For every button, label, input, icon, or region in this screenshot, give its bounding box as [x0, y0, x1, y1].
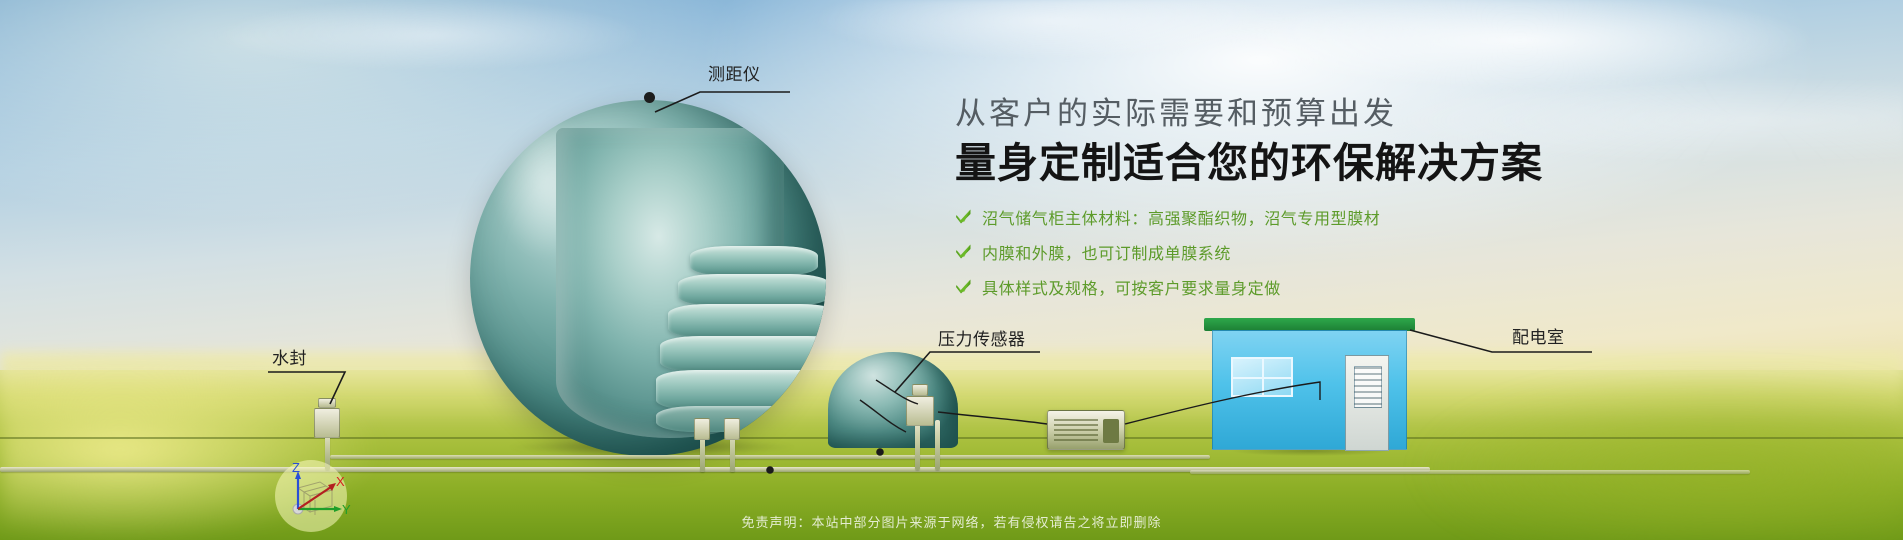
marketing-copy-block: 从客户的实际需要和预算出发 量身定制适合您的环保解决方案 沼气储气柜主体材料：高…: [955, 95, 1655, 310]
check-badge-icon: [955, 208, 972, 225]
annotation-water-seal: 水封: [272, 344, 307, 369]
svg-text:X: X: [336, 474, 345, 489]
bullet-text: 内膜和外膜，也可订制成单膜系统: [982, 240, 1231, 264]
list-item: 内膜和外膜，也可订制成单膜系统: [955, 240, 1655, 264]
svg-text:Z: Z: [292, 460, 300, 475]
annotation-power-distribution-room: 配电室: [1512, 323, 1565, 348]
bullet-text: 具体样式及规格，可按客户要求量身定做: [982, 275, 1281, 299]
copy-title: 量身定制适合您的环保解决方案: [955, 138, 1655, 188]
disclaimer-text: 免责声明：本站中部分图片来源于网络，若有侵权请告之将立即删除: [0, 512, 1903, 531]
annotation-rangefinder: 测距仪: [708, 60, 761, 85]
feature-bullet-list: 沼气储气柜主体材料：高强聚酯织物，沼气专用型膜材 内膜和外膜，也可订制成单膜系统: [955, 205, 1655, 299]
annotation-pressure-sensor: 压力传感器: [938, 325, 1026, 350]
hero-banner: 测距仪 水封 压力传感器 配电室 Z Y X 从客户的实际需要和预算出发 量身定…: [0, 0, 1903, 540]
check-badge-icon: [955, 278, 972, 295]
list-item: 沼气储气柜主体材料：高强聚酯织物，沼气专用型膜材: [955, 205, 1655, 229]
check-badge-icon: [955, 243, 972, 260]
bullet-text: 沼气储气柜主体材料：高强聚酯织物，沼气专用型膜材: [982, 205, 1380, 229]
list-item: 具体样式及规格，可按客户要求量身定做: [955, 275, 1655, 299]
copy-subtitle: 从客户的实际需要和预算出发: [955, 95, 1655, 134]
